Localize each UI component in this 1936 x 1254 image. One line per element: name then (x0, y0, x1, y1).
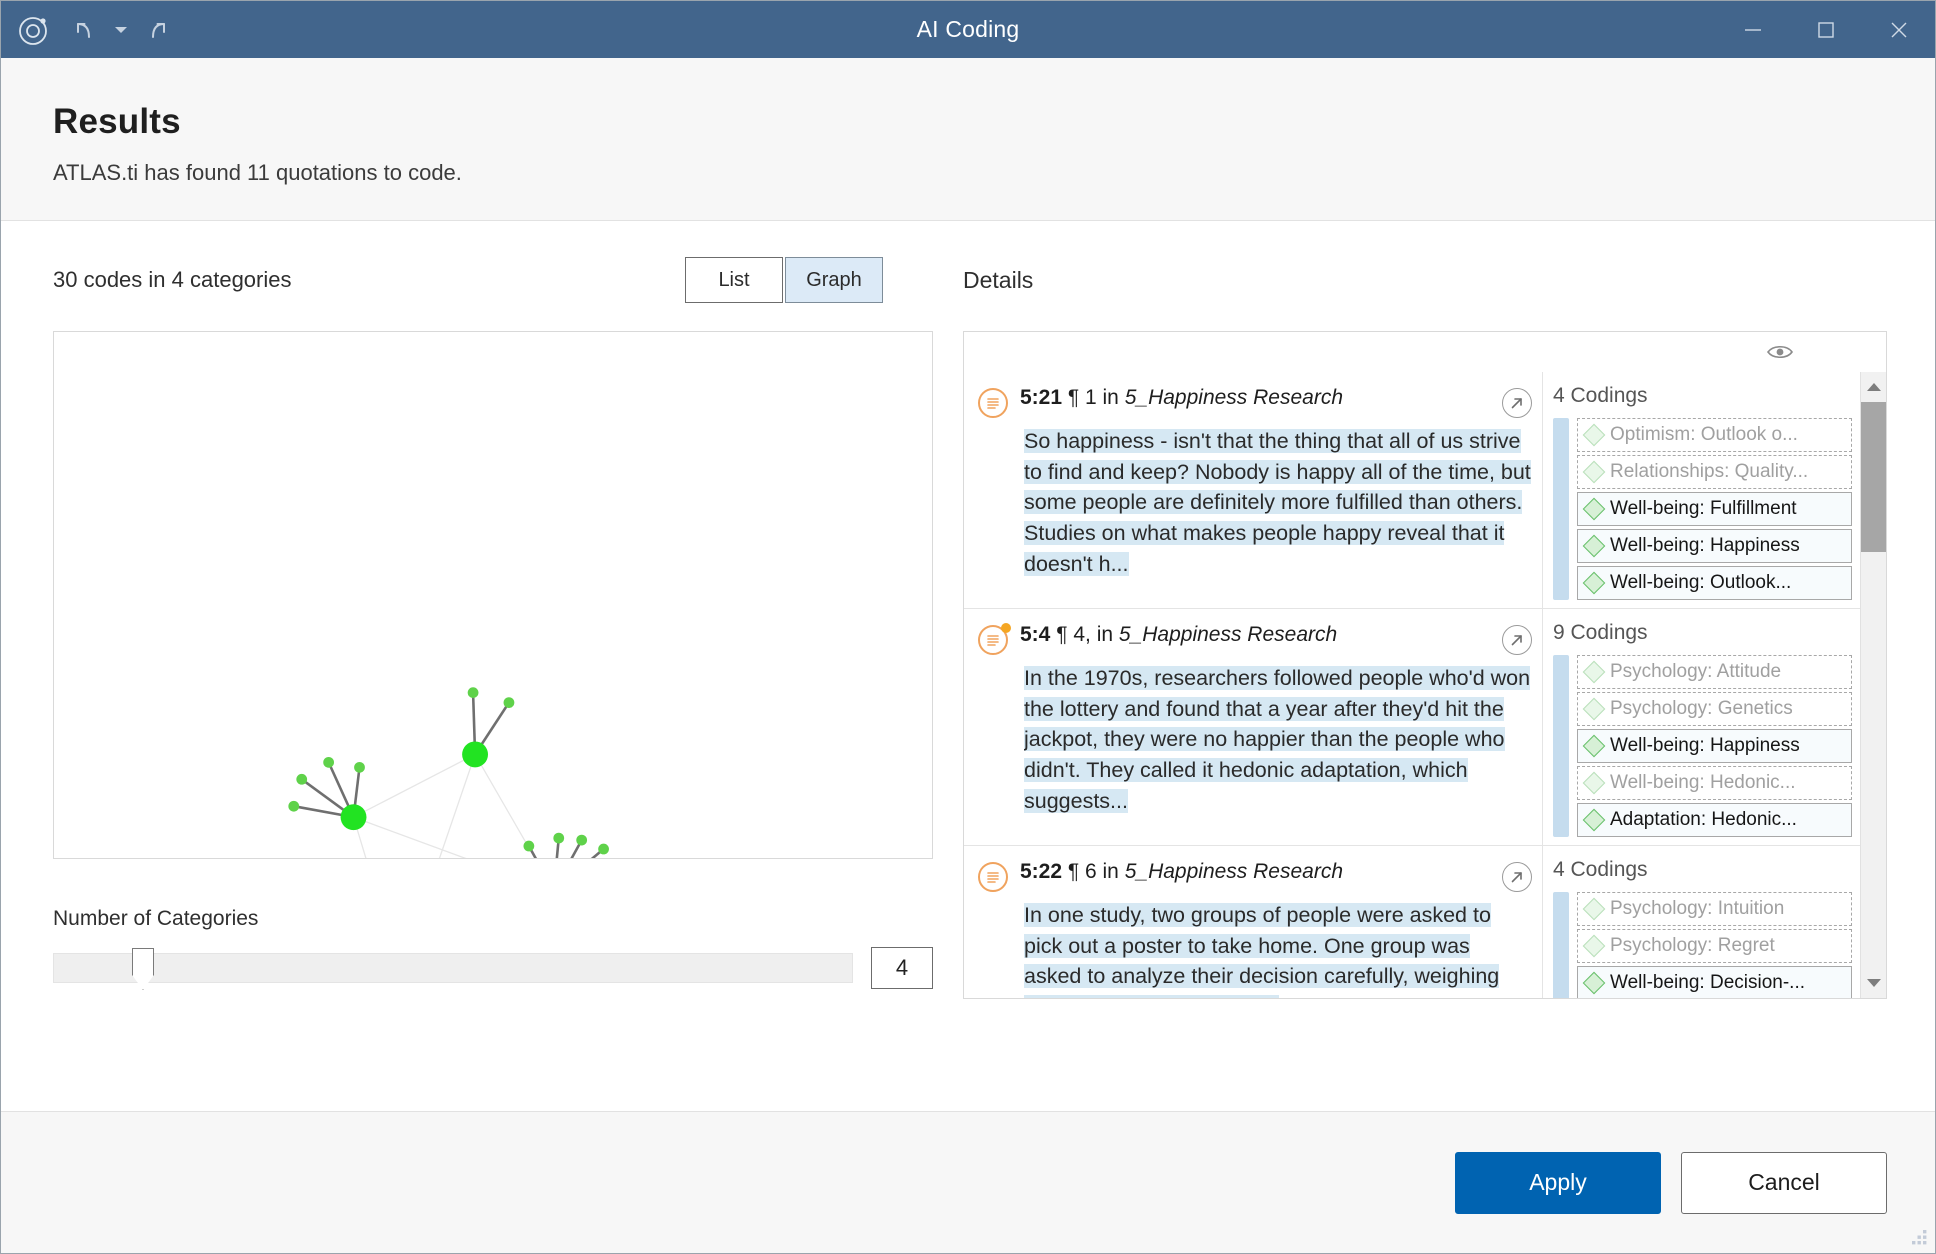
graph-code-node[interactable] (598, 844, 609, 855)
open-external-icon[interactable] (1502, 625, 1532, 655)
quotation-reference: 5:21 ¶ 1 in 5_Happiness Research (1020, 386, 1490, 410)
quotation-paragraph: ¶ 1 (1068, 386, 1097, 409)
codings-column: 9 CodingsPsychology: AttitudePsychology:… (1542, 609, 1860, 845)
code-chip[interactable]: Psychology: Attitude (1577, 655, 1852, 689)
details-scrollbar[interactable] (1860, 372, 1886, 998)
quotation-id: 5:21 (1020, 386, 1062, 409)
quotation-document: 5_Happiness Research (1125, 386, 1343, 409)
graph-code-node[interactable] (504, 697, 515, 708)
quotation-row[interactable]: 5:4 ¶ 4, in 5_Happiness ResearchIn the 1… (964, 609, 1860, 846)
graph-category-node[interactable] (341, 804, 367, 830)
code-diamond-icon (1583, 772, 1606, 795)
code-chip[interactable]: Well-being: Hedonic... (1577, 766, 1852, 800)
quotation-in-label: in (1103, 386, 1119, 409)
code-diamond-icon (1583, 898, 1606, 921)
redo-icon[interactable] (135, 7, 181, 53)
code-diamond-icon (1583, 735, 1606, 758)
codings-count: 4 Codings (1553, 384, 1852, 408)
graph-toolbar: 30 codes in 4 categories List Graph (53, 257, 931, 303)
code-chip-label: Well-being: Fulfillment (1610, 498, 1797, 520)
document-icon[interactable] (978, 625, 1008, 655)
quotation-text: So happiness - isn't that the thing that… (1024, 426, 1532, 580)
window-controls (1716, 1, 1935, 58)
code-chip[interactable]: Psychology: Genetics (1577, 692, 1852, 726)
quotation-content: 5:21 ¶ 1 in 5_Happiness ResearchSo happi… (964, 372, 1542, 608)
window-titlebar: AI Coding (1, 1, 1935, 58)
quotation-list: 5:21 ¶ 1 in 5_Happiness ResearchSo happi… (964, 372, 1860, 998)
graph-code-node[interactable] (523, 841, 534, 852)
codings-list: Psychology: AttitudePsychology: Genetics… (1553, 655, 1852, 837)
unsaved-badge-icon (1001, 623, 1011, 633)
graph-code-node[interactable] (553, 833, 564, 844)
code-diamond-icon (1583, 498, 1606, 521)
codings-count: 9 Codings (1553, 621, 1852, 645)
graph-category-node[interactable] (462, 741, 488, 767)
scroll-down-arrow-icon[interactable] (1866, 968, 1882, 998)
window-title: AI Coding (1, 1, 1935, 58)
open-external-icon[interactable] (1502, 388, 1532, 418)
quotation-reference: 5:4 ¶ 4, in 5_Happiness Research (1020, 623, 1490, 647)
details-title: Details (963, 257, 1887, 303)
quotation-paragraph: ¶ 6 (1068, 860, 1097, 883)
code-chip-label: Psychology: Attitude (1610, 661, 1781, 683)
code-network-graph[interactable] (53, 331, 933, 859)
graph-edge (554, 849, 604, 858)
code-diamond-icon (1583, 424, 1606, 447)
graph-code-node[interactable] (468, 687, 479, 698)
quotation-id: 5:22 (1020, 860, 1062, 883)
code-chip-list: Psychology: AttitudePsychology: Genetics… (1577, 655, 1852, 837)
code-chip-label: Well-being: Happiness (1610, 535, 1800, 557)
code-diamond-icon (1583, 572, 1606, 595)
code-diamond-icon (1583, 935, 1606, 958)
graph-pane: 30 codes in 4 categories List Graph Numb… (1, 221, 931, 1111)
graph-code-node[interactable] (296, 774, 307, 785)
results-header: Results ATLAS.ti has found 11 quotations… (1, 58, 1935, 221)
code-chip[interactable]: Well-being: Happiness (1577, 529, 1852, 563)
close-icon[interactable] (1862, 1, 1935, 58)
resize-grip-icon[interactable] (1907, 1226, 1929, 1248)
details-panel: 5:21 ¶ 1 in 5_Happiness ResearchSo happi… (963, 331, 1887, 999)
graph-hub-link (475, 754, 554, 858)
code-chip-list: Optimism: Outlook o...Relationships: Qua… (1577, 418, 1852, 600)
code-chip[interactable]: Psychology: Regret (1577, 929, 1852, 963)
code-diamond-icon (1583, 461, 1606, 484)
codes-summary: 30 codes in 4 categories (53, 267, 292, 293)
quotation-header: 5:22 ¶ 6 in 5_Happiness Research (978, 860, 1532, 892)
details-pane: Details 5:21 ¶ 1 in 5_Happiness Research… (931, 221, 1935, 1111)
quotation-id: 5:4 (1020, 623, 1050, 646)
page-subtitle: ATLAS.ti has found 11 quotations to code… (53, 160, 1935, 186)
ai-coding-dialog: AI Coding Results ATLAS.ti has found 11 … (0, 0, 1936, 1254)
codings-group-bar (1553, 418, 1569, 600)
quotation-in-label: in (1097, 623, 1113, 646)
code-chip-label: Well-being: Hedonic... (1610, 772, 1796, 794)
quotation-paragraph: ¶ 4, (1056, 623, 1091, 646)
slider-thumb[interactable] (132, 948, 154, 990)
undo-icon[interactable] (61, 7, 107, 53)
code-diamond-icon (1583, 535, 1606, 558)
code-diamond-icon (1583, 972, 1606, 995)
document-icon[interactable] (978, 862, 1008, 892)
atlasti-logo-icon[interactable] (11, 7, 57, 53)
page-title: Results (53, 102, 1935, 142)
quotation-document: 5_Happiness Research (1119, 623, 1337, 646)
scrollbar-thumb[interactable] (1861, 402, 1887, 552)
quotation-header: 5:4 ¶ 4, in 5_Happiness Research (978, 623, 1532, 655)
graph-code-node[interactable] (323, 757, 334, 768)
titlebar-tools (1, 7, 181, 53)
graph-canvas[interactable] (54, 332, 932, 858)
slider-label: Number of Categories (53, 907, 933, 931)
details-toolbar (964, 332, 1886, 372)
quotation-reference: 5:22 ¶ 6 in 5_Happiness Research (1020, 860, 1490, 884)
graph-hub-link (400, 754, 475, 858)
code-chip[interactable]: Adaptation: Hedonic... (1577, 803, 1852, 837)
view-toggle-group: List Graph (685, 257, 883, 303)
quotation-in-label: in (1103, 860, 1119, 883)
quotation-document: 5_Happiness Research (1125, 860, 1343, 883)
code-chip-label: Relationships: Quality... (1610, 461, 1808, 483)
minimize-icon[interactable] (1716, 1, 1789, 58)
code-chip[interactable]: Well-being: Decision-... (1577, 966, 1852, 999)
code-diamond-icon (1583, 809, 1606, 832)
maximize-icon[interactable] (1789, 1, 1862, 58)
quotation-row[interactable]: 5:22 ¶ 6 in 5_Happiness ResearchIn one s… (964, 846, 1860, 999)
code-chip[interactable]: Well-being: Happiness (1577, 729, 1852, 763)
dialog-body: 30 codes in 4 categories List Graph Numb… (1, 221, 1935, 1111)
apply-button[interactable]: Apply (1455, 1152, 1661, 1214)
number-of-categories-control: Number of Categories 4 (53, 907, 933, 989)
code-chip-label: Psychology: Intuition (1610, 898, 1784, 920)
categories-value[interactable]: 4 (871, 947, 933, 989)
code-diamond-icon (1583, 661, 1606, 684)
tab-list[interactable]: List (685, 257, 783, 303)
code-chip[interactable]: Well-being: Fulfillment (1577, 492, 1852, 526)
quotation-text: In the 1970s, researchers followed peopl… (1024, 663, 1532, 817)
cancel-button[interactable]: Cancel (1681, 1152, 1887, 1214)
document-icon[interactable] (978, 388, 1008, 418)
undo-dropdown-icon[interactable] (111, 7, 131, 53)
codings-list: Optimism: Outlook o...Relationships: Qua… (1553, 418, 1852, 600)
categories-slider[interactable] (53, 953, 853, 983)
tab-graph[interactable]: Graph (785, 257, 883, 303)
code-chip-label: Optimism: Outlook o... (1610, 424, 1798, 446)
eye-icon[interactable] (1766, 342, 1794, 362)
codings-list: Psychology: IntuitionPsychology: RegretW… (1553, 892, 1852, 999)
details-scroll-area: 5:21 ¶ 1 in 5_Happiness ResearchSo happi… (964, 372, 1886, 998)
codings-column: 4 CodingsPsychology: IntuitionPsychology… (1542, 846, 1860, 999)
codings-column: 4 CodingsOptimism: Outlook o...Relations… (1542, 372, 1860, 608)
code-chip[interactable]: Optimism: Outlook o... (1577, 418, 1852, 452)
code-chip[interactable]: Relationships: Quality... (1577, 455, 1852, 489)
quotation-text: In one study, two groups of people were … (1024, 900, 1532, 999)
quotation-content: 5:4 ¶ 4, in 5_Happiness ResearchIn the 1… (964, 609, 1542, 845)
code-chip-list: Psychology: IntuitionPsychology: RegretW… (1577, 892, 1852, 999)
graph-code-node[interactable] (288, 801, 299, 812)
code-chip-label: Psychology: Genetics (1610, 698, 1793, 720)
code-chip-label: Psychology: Regret (1610, 935, 1775, 957)
code-chip[interactable]: Psychology: Intuition (1577, 892, 1852, 926)
slider-row: 4 (53, 947, 933, 989)
scroll-up-arrow-icon[interactable] (1866, 372, 1882, 402)
graph-code-node[interactable] (354, 762, 365, 773)
codings-count: 4 Codings (1553, 858, 1852, 882)
dialog-footer: Apply Cancel (1, 1111, 1935, 1253)
quotation-header: 5:21 ¶ 1 in 5_Happiness Research (978, 386, 1532, 418)
code-chip[interactable]: Well-being: Outlook... (1577, 566, 1852, 600)
code-chip-label: Adaptation: Hedonic... (1610, 809, 1797, 831)
quotation-content: 5:22 ¶ 6 in 5_Happiness ResearchIn one s… (964, 846, 1542, 999)
codings-group-bar (1553, 892, 1569, 999)
code-diamond-icon (1583, 698, 1606, 721)
quotation-row[interactable]: 5:21 ¶ 1 in 5_Happiness ResearchSo happi… (964, 372, 1860, 609)
code-chip-label: Well-being: Outlook... (1610, 572, 1791, 594)
code-chip-label: Well-being: Decision-... (1610, 972, 1805, 994)
codings-group-bar (1553, 655, 1569, 837)
open-external-icon[interactable] (1502, 862, 1532, 892)
code-chip-label: Well-being: Happiness (1610, 735, 1800, 757)
graph-code-node[interactable] (576, 835, 587, 846)
